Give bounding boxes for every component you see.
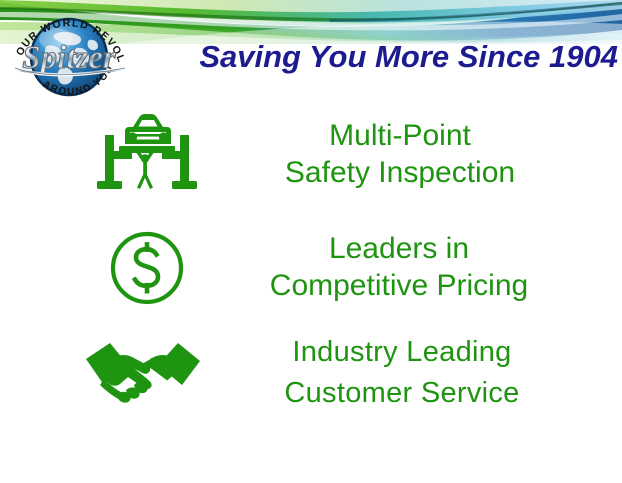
feature-line: Industry Leading — [214, 332, 590, 373]
feature-text-pricing: Leaders in Competitive Pricing — [206, 231, 588, 305]
feature-line: Multi-Point — [212, 118, 588, 155]
feature-row-service: Industry Leading Customer Service — [80, 330, 590, 416]
dollar-sign-circle-icon — [88, 224, 206, 312]
feature-line: Leaders in — [210, 231, 588, 268]
feature-text-service: Industry Leading Customer Service — [206, 332, 590, 414]
spitzer-logo-graphic: OUR WORLD REVOLVES AROUND YOU Spitzer — [3, 2, 135, 112]
slide-canvas: OUR WORLD REVOLVES AROUND YOU Spitzer Sa… — [0, 0, 622, 483]
car-on-lift-icon — [88, 111, 206, 199]
feature-line: Competitive Pricing — [210, 268, 588, 305]
page-title: Saving You More Since 1904 — [140, 41, 618, 74]
feature-line: Customer Service — [214, 373, 590, 414]
handshake-icon — [80, 333, 206, 413]
feature-row-inspection: Multi-Point Safety Inspection — [88, 110, 588, 200]
spitzer-logo[interactable]: OUR WORLD REVOLVES AROUND YOU Spitzer — [3, 2, 135, 112]
feature-text-inspection: Multi-Point Safety Inspection — [206, 118, 588, 192]
logo-wordmark: Spitzer — [15, 40, 125, 76]
feature-row-pricing: Leaders in Competitive Pricing — [88, 222, 588, 314]
feature-line: Safety Inspection — [212, 155, 588, 192]
